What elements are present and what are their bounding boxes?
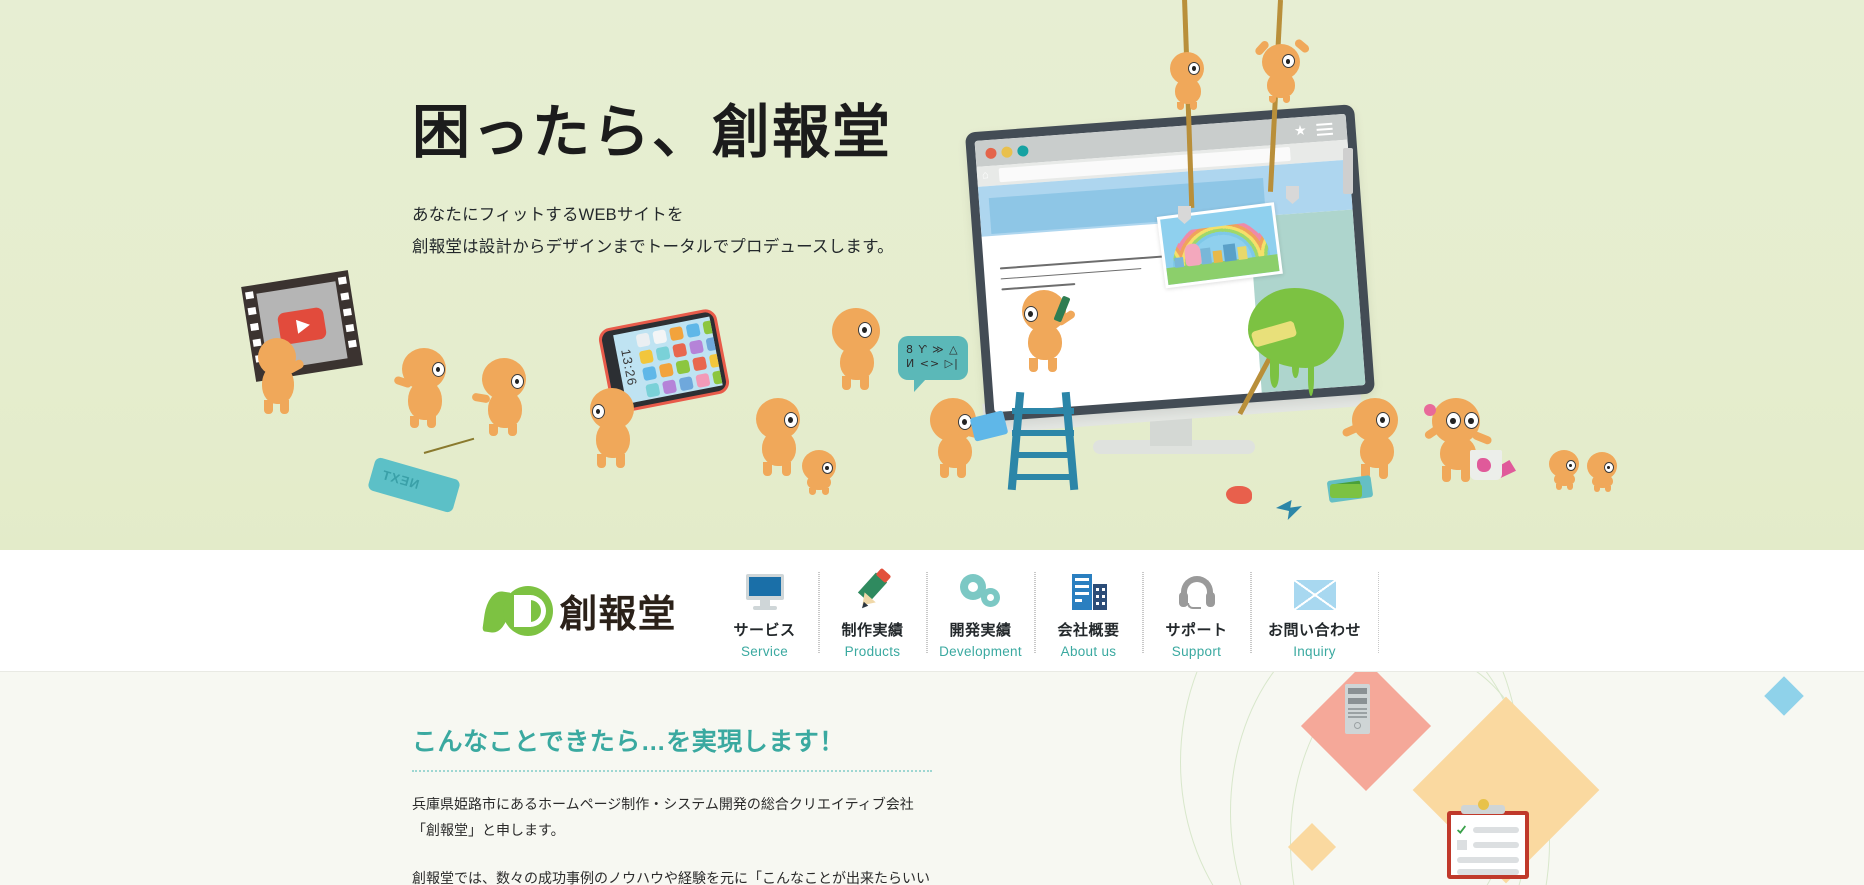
logo-leaf-d-icon (485, 584, 553, 638)
nav-item-service-ja: サービス (733, 619, 795, 640)
nav-item-development[interactable]: 開発実績 Development (927, 550, 1035, 671)
intro-section: こんなことできたら…を実現します！ 兵庫県姫路市にあるホームページ制作・システム… (0, 672, 1864, 885)
window-maximize-dot (1017, 145, 1029, 157)
nav-item-products[interactable]: 制作実績 Products (819, 550, 927, 671)
character-painter-right (1348, 398, 1412, 480)
section-title: こんなことできたら…を実現します！ (412, 722, 932, 758)
nav-item-products-en: Products (845, 644, 901, 659)
paint-blob-blue (1276, 500, 1302, 520)
window-close-dot (985, 147, 997, 159)
speech-bubble-glyphs: 8 Ƴ ≫ △ И <> ▷| (906, 343, 962, 371)
character-tiny-2 (1586, 452, 1620, 492)
hero-subtitle-line-1: あなたにフィットするWEBサイトを (412, 199, 894, 231)
character-two (398, 348, 460, 428)
paint-blob-green (1330, 484, 1362, 498)
nav-item-products-ja: 制作実績 (841, 619, 903, 640)
intro-paragraph-1: 兵庫県姫路市にあるホームページ制作・システム開発の総合クリエイティブ会社「創報堂… (412, 792, 932, 844)
bookmark-star-icon: ★ (1294, 123, 1308, 138)
section-divider (412, 770, 932, 772)
character-phone-holder (586, 388, 648, 468)
character-on-ladder (1018, 290, 1080, 372)
intro-paragraph-2: 創報堂では、数々の成功事例のノウハウや経験を元に「こんなことが出来たらいいのに (412, 866, 932, 885)
landing-page: 困ったら、創報堂 あなたにフィットするWEBサイトを 創報堂は設計からデザインま… (0, 0, 1864, 885)
hero-section: 困ったら、創報堂 あなたにフィットするWEBサイトを 創報堂は設計からデザインま… (0, 0, 1864, 550)
home-icon: ⌂ (982, 170, 989, 181)
character-mustache (828, 308, 894, 390)
paint-bucket (1470, 450, 1502, 480)
building-icon (1070, 568, 1108, 610)
character-small-ground (800, 450, 840, 494)
nav-item-support[interactable]: サポート Support (1143, 550, 1251, 671)
site-logo[interactable]: 創報堂 (485, 583, 710, 638)
nav-item-support-ja: サポート (1165, 619, 1227, 640)
hero-subtitle-line-2: 創報堂は設計からデザインまでトータルでプロデュースします。 (412, 231, 894, 263)
character-rope-climber-left (1168, 52, 1214, 110)
nav-item-about-us-en: About us (1061, 644, 1117, 659)
hero-copy: 困ったら、創報堂 あなたにフィットするWEBサイトを 創報堂は設計からデザインま… (412, 100, 894, 263)
clipboard-icon (1447, 811, 1529, 879)
pencil-icon (853, 568, 893, 610)
paint-blob-red (1226, 486, 1252, 504)
page-title: 困ったら、創報堂 (412, 100, 894, 167)
nav-inner: 創報堂 サービス Service 制作実績 Products (485, 550, 1378, 671)
phone-time: 13:26 (618, 348, 640, 388)
gears-icon (960, 568, 1002, 610)
character-rope-puller (478, 358, 540, 436)
nav-item-inquiry[interactable]: お問い合わせ Inquiry (1251, 550, 1379, 671)
nav-item-development-ja: 開発実績 (949, 619, 1011, 640)
hamburger-menu-icon (1316, 123, 1333, 139)
nav-item-development-en: Development (939, 644, 1022, 659)
nav-item-inquiry-ja: お問い合わせ (1268, 619, 1361, 640)
nav-item-inquiry-en: Inquiry (1293, 644, 1336, 659)
main-navigation: 創報堂 サービス Service 制作実績 Products (0, 550, 1864, 672)
speech-line-2: И <> ▷| (906, 357, 962, 371)
nav-item-service[interactable]: サービス Service (711, 550, 819, 671)
mail-icon (1294, 568, 1336, 610)
flower-prop (1424, 404, 1436, 416)
ladder-illustration (1008, 392, 1078, 490)
intro-copy: こんなことできたら…を実現します！ 兵庫県姫路市にあるホームページ制作・システム… (412, 722, 932, 885)
character-tiny-1 (1548, 450, 1582, 490)
logo-text: 創報堂 (559, 583, 676, 638)
hero-subtitle: あなたにフィットするWEBサイトを 創報堂は設計からデザインまでトータルでプロデ… (412, 199, 894, 263)
diamond-salmon-3 (1764, 676, 1804, 716)
window-minimize-dot (1001, 146, 1013, 158)
hanging-photo (1157, 202, 1283, 288)
headset-icon (1179, 568, 1215, 610)
speech-line-1: 8 Ƴ ≫ △ (906, 343, 962, 357)
nav-item-support-en: Support (1172, 644, 1221, 659)
character-rope-climber-right (1258, 38, 1310, 102)
nav-item-about-us[interactable]: 会社概要 About us (1035, 550, 1143, 671)
next-sign: NEXT (367, 457, 461, 514)
character-film-carrier (252, 338, 308, 414)
nav-item-about-us-ja: 会社概要 (1057, 619, 1119, 640)
nav-item-service-en: Service (741, 644, 788, 659)
speech-bubble: 8 Ƴ ≫ △ И <> ▷| (898, 336, 968, 380)
server-icon (1345, 684, 1370, 734)
next-sign-label: NEXT (380, 467, 421, 492)
monitor-icon (746, 568, 784, 610)
